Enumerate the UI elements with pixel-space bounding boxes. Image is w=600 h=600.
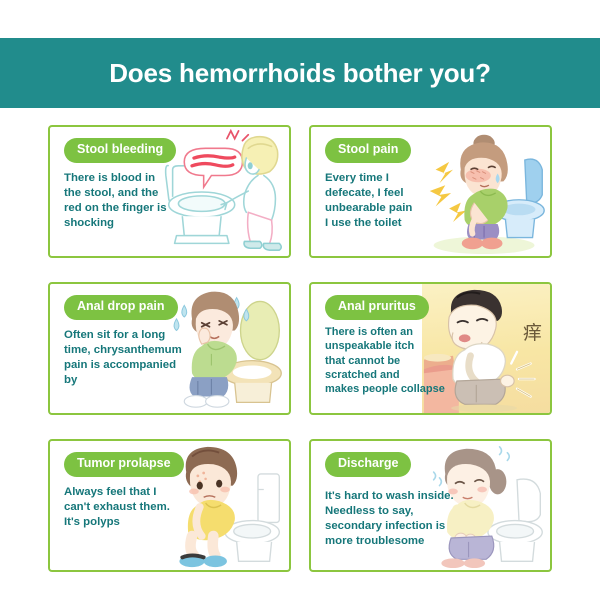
itch-character-mark: 痒 [523,318,542,345]
infographic-page: Does hemorrhoids bother you? [0,0,600,600]
symptom-card-anal-drop-pain[interactable]: Anal drop pain Often sit for a long time… [48,282,291,415]
header-band: Does hemorrhoids bother you? [0,38,600,108]
symptom-card-stool-bleeding[interactable]: Stool bleeding There is blood in the sto… [48,125,291,258]
card-badge-tumor-prolapse: Tumor prolapse [64,452,184,477]
card-badge-stool-bleeding: Stool bleeding [64,138,176,163]
symptom-card-anal-pruritus[interactable]: 痒 Anal pruritus There is often an unspea… [309,282,552,415]
card-body-anal-drop-pain: Often sit for a long time, chrysanthemum… [64,328,214,389]
card-body-tumor-prolapse: Always feel that I can't exhaust them. I… [64,485,199,530]
card-body-stool-pain: Every time I defecate, I feel unbearable… [325,171,460,232]
card-body-stool-bleeding: There is blood in the stool, and the red… [64,171,199,232]
card-badge-discharge: Discharge [325,452,411,477]
card-badge-stool-pain: Stool pain [325,138,411,163]
card-badge-anal-drop-pain: Anal drop pain [64,295,178,320]
symptom-card-tumor-prolapse[interactable]: Tumor prolapse Always feel that I can't … [48,439,291,572]
symptom-card-stool-pain[interactable]: Stool pain Every time I defecate, I feel… [309,125,552,258]
page-title: Does hemorrhoids bother you? [109,58,491,89]
card-body-anal-pruritus: There is often an unspeakable itch that … [325,325,460,396]
symptom-card-discharge[interactable]: Discharge It's hard to wash inside. Need… [309,439,552,572]
card-body-discharge: It's hard to wash inside. Needless to sa… [325,489,477,550]
card-badge-anal-pruritus: Anal pruritus [325,295,429,320]
symptom-card-grid: Stool bleeding There is blood in the sto… [48,125,552,572]
